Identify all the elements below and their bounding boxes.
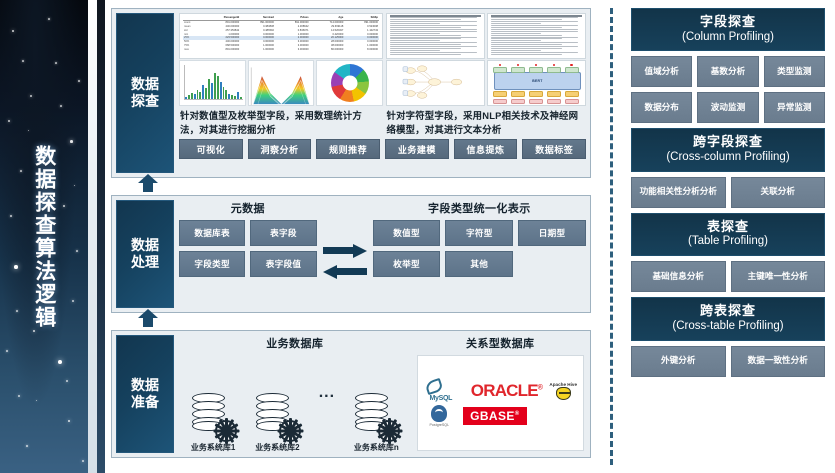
text-line [390, 42, 477, 43]
taxonomy-header-cn: 表探查 [634, 219, 822, 235]
taxonomy-item-grid: 外键分析数据一致性分析 [631, 346, 825, 377]
taxonomy-header-en: (Column Profiling) [634, 31, 822, 45]
field-type-chip[interactable]: 数值型 [373, 220, 441, 246]
taxonomy-item[interactable]: 波动监测 [697, 92, 758, 123]
gear-icon [279, 420, 301, 442]
bar [185, 97, 187, 99]
metadata-chip[interactable]: 表字段 [250, 220, 316, 246]
text-line [491, 37, 578, 38]
dolphin-icon [424, 377, 443, 394]
taxonomy-item[interactable]: 数据分布 [631, 92, 692, 123]
taxonomy-item-grid: 基础信息分析主键唯一性分析 [631, 261, 825, 292]
section-data-profiling: 数据 探查 PassengerIdSurvivedPclassAgeSibSpc… [111, 8, 591, 178]
section-label-line1: 数据 [131, 237, 159, 253]
histogram-chart [179, 60, 246, 106]
taxonomy-group: 表探查(Table Profiling)基础信息分析主键唯一性分析 [631, 213, 825, 292]
text-line [390, 52, 477, 53]
profiling-button-6[interactable]: 数据标签 [522, 139, 586, 159]
text-line [491, 31, 578, 32]
taxonomy-group-header: 字段探查(Column Profiling) [631, 8, 825, 51]
text-line [491, 54, 562, 55]
processing-layout: 元数据 数据库表表字段字段类型表字段值 字段类型统一化表示 数值型字符型日期型枚… [179, 200, 586, 308]
taxonomy-item[interactable]: 类型监测 [764, 56, 825, 87]
field-type-group-title: 字段类型统一化表示 [373, 200, 586, 216]
bert-input-token [529, 67, 544, 73]
panel-gap [88, 0, 97, 473]
text-line [491, 23, 541, 24]
field-type-chip-grid: 数值型字符型日期型枚举型其他 [373, 220, 586, 277]
mask-dot-icon [499, 64, 502, 67]
charts-row [179, 60, 383, 106]
bar [211, 83, 213, 99]
field-type-chip[interactable]: 日期型 [518, 220, 586, 246]
media-strip: PassengerIdSurvivedPclassAgeSibSpcount89… [179, 13, 586, 106]
bar [205, 88, 207, 99]
relational-db-title: 关系型数据库 [415, 335, 586, 351]
oracle-trademark: ® [538, 384, 542, 391]
oracle-logo: ORACLE® [471, 381, 542, 401]
field-type-chip[interactable]: 字符型 [445, 220, 513, 246]
flow-arrow-up-1 [111, 178, 591, 195]
bar [220, 82, 222, 99]
panel-edge [97, 0, 105, 473]
section-data-processing: 数据 处理 元数据 数据库表表字段字段类型表字段值 字段类型统一化表示 [111, 195, 591, 313]
describe-table-screenshot: PassengerIdSurvivedPclassAgeSibSpcount89… [179, 13, 383, 59]
histogram-bars [185, 71, 242, 99]
mysql-label: MySQL [430, 395, 453, 402]
text-line [491, 46, 578, 47]
section-body-processing: 元数据 数据库表表字段字段类型表字段值 字段类型统一化表示 数值型字符型日期型枚… [174, 200, 586, 308]
taxonomy-item[interactable]: 基础信息分析 [631, 261, 726, 292]
text-line [491, 52, 578, 53]
stats-media-group: PassengerIdSurvivedPclassAgeSibSpcount89… [179, 13, 383, 106]
left-title-panel: 数据探查算法逻辑 [0, 0, 88, 473]
text-line [390, 46, 477, 47]
text-line [390, 35, 461, 36]
text-line [390, 33, 440, 34]
text-line [390, 48, 461, 49]
taxonomy-item-grid: 值域分析基数分析类型监测数据分布波动监测异常监测 [631, 56, 825, 123]
taxonomy-item[interactable]: 异常监测 [764, 92, 825, 123]
bert-hidden-token [565, 91, 580, 97]
bert-hidden-token [493, 91, 508, 97]
bar [225, 90, 227, 99]
profiling-button-4[interactable]: 业务建模 [385, 139, 449, 159]
bert-hidden-token [529, 91, 544, 97]
bar [240, 97, 242, 99]
bert-input-token [493, 67, 508, 73]
bar [223, 87, 225, 99]
bert-hidden-token [547, 91, 562, 97]
taxonomy-header-en: (Cross-table Profiling) [634, 320, 822, 334]
x-axis [184, 99, 243, 100]
table-row: max891.0000001.0000003.00000080.0000008.… [183, 47, 379, 51]
section-label-preparation: 数据 准备 [116, 335, 174, 453]
text-line [491, 48, 562, 49]
donut-chart [316, 60, 383, 106]
flow-arrow-up-2 [111, 313, 591, 330]
section-label-line2: 处理 [131, 254, 159, 270]
metadata-chip-grid: 数据库表表字段字段类型表字段值 [179, 220, 317, 277]
metadata-chip[interactable]: 字段类型 [179, 251, 245, 277]
text-line [491, 27, 562, 28]
profiling-button-row: 可视化洞察分析规则推荐业务建模信息提炼数据标签 [179, 139, 586, 159]
table-cell: 3.000000 [275, 47, 310, 51]
text-table-screenshot-1 [386, 13, 485, 59]
field-type-chip[interactable]: 枚举型 [373, 251, 441, 277]
text-line [390, 37, 477, 38]
table-cell: 891.000000 [202, 47, 240, 51]
bar [199, 92, 201, 99]
vendor-logo-card: MySQL ORACLE® Apache Hive [417, 355, 584, 451]
bert-input-token [565, 67, 580, 73]
mysql-logo: MySQL [424, 380, 464, 402]
logo-row-bottom: PostgreSQL GBASE® [424, 405, 577, 427]
table-cell: max [183, 47, 202, 51]
bar [194, 94, 196, 99]
taxonomy-header-cn: 跨表探查 [634, 303, 822, 319]
metadata-group: 元数据 数据库表表字段字段类型表字段值 [179, 200, 317, 308]
database-label: 业务系统库n [354, 442, 399, 453]
surface-3d-chart [248, 60, 315, 106]
oracle-label: ORACLE [471, 381, 538, 400]
arrow-right-icon [323, 246, 367, 255]
bert-label: BERT [532, 79, 542, 83]
metadata-group-title: 元数据 [179, 200, 317, 216]
table-cell: 80.000000 [310, 47, 345, 51]
surface-3d-svg [249, 61, 314, 106]
profiling-button-3[interactable]: 规则推荐 [316, 139, 380, 159]
bar [231, 95, 233, 99]
text-line [491, 33, 541, 34]
text-table-screenshot-2 [487, 13, 586, 59]
text-line [390, 23, 440, 24]
section-label-processing: 数据 处理 [116, 200, 174, 308]
bert-input-token [511, 67, 526, 73]
bidirectional-arrows [317, 200, 373, 308]
database-label: 业务系统库2 [255, 442, 299, 453]
text-line [491, 19, 562, 20]
taxonomy-group: 字段探查(Column Profiling)值域分析基数分析类型监测数据分布波动… [631, 8, 825, 123]
database-cylinder-icon [254, 393, 300, 441]
text-line [491, 40, 541, 41]
database-label: 业务系统库1 [191, 442, 235, 453]
text-line [491, 50, 541, 51]
taxonomy-item[interactable]: 功能相关性分析分析 [631, 177, 726, 208]
bar [208, 79, 210, 99]
taxonomy-group-header: 表探查(Table Profiling) [631, 213, 825, 256]
bar [202, 85, 204, 99]
database-cylinder-icon [353, 393, 399, 441]
relational-db-group: 关系型数据库 MySQL ORACLE® Apache Hive [415, 335, 586, 453]
database-icon-row: 业务系统库1业务系统库2...业务系统库n [179, 355, 411, 453]
profiling-button-5[interactable]: 信息提炼 [454, 139, 518, 159]
description-row: 针对数值型及枚举型字段，采用数理统计方法，对其进行挖掘分析 针对字符型字段，采用… [179, 106, 586, 136]
text-line [390, 29, 477, 30]
database-item: 业务系统库1 [190, 393, 236, 453]
profiling-taxonomy-column: 字段探查(Column Profiling)值域分析基数分析类型监测数据分布波动… [629, 0, 835, 473]
mask-dot-icon [535, 64, 538, 67]
bar [234, 96, 236, 99]
description-numeric: 针对数值型及枚举型字段，采用数理统计方法，对其进行挖掘分析 [179, 106, 380, 136]
mask-dot-icon [517, 64, 520, 67]
taxonomy-header-en: (Cross-column Profiling) [634, 151, 822, 165]
profiling-button-1[interactable]: 可视化 [179, 139, 243, 159]
bert-output-token [547, 99, 562, 104]
database-item: 业务系统库2 [254, 393, 300, 453]
table-cell: 8.000000 [344, 47, 379, 51]
database-cylinder-icon [190, 393, 236, 441]
bert-encoder-block: BERT [494, 72, 581, 90]
donut-ring [331, 64, 369, 102]
preparation-layout: 业务数据库 业务系统库1业务系统库2...业务系统库n 关系型数据库 MySQL [179, 335, 586, 453]
logo-row-top: MySQL ORACLE® Apache Hive [424, 380, 577, 402]
postgresql-label: PostgreSQL [430, 423, 450, 427]
slide-root: 数据探查算法逻辑 数据 探查 PassengerIdSurvivedPcla [0, 0, 835, 473]
text-line [390, 38, 461, 39]
profiling-button-2[interactable]: 洞察分析 [248, 139, 312, 159]
text-line [390, 31, 477, 32]
mask-dot-icon [553, 64, 556, 67]
elephant-icon [431, 405, 447, 422]
hive-label: Apache Hive [549, 382, 577, 387]
bar [214, 73, 216, 99]
bar [237, 92, 239, 99]
taxonomy-item[interactable]: 关联分析 [731, 177, 826, 208]
bert-hidden-token [511, 91, 526, 97]
taxonomy-item[interactable]: 基数分析 [697, 56, 758, 87]
field-type-group: 字段类型统一化表示 数值型字符型日期型枚举型其他 [373, 200, 586, 308]
taxonomy-group-header: 跨表探查(Cross-table Profiling) [631, 297, 825, 340]
gbase-label: GBASE [470, 409, 515, 423]
section-data-preparation: 数据 准备 业务数据库 业务系统库1业务系统库2...业务系统库n 关系型数据库 [111, 330, 591, 458]
mask-dot-icon [570, 64, 573, 67]
gear-icon [215, 420, 237, 442]
metadata-chip[interactable]: 表字段值 [250, 251, 316, 277]
taxonomy-item-grid: 功能相关性分析分析关联分析 [631, 177, 825, 208]
bar [191, 93, 193, 99]
text-line [390, 21, 477, 22]
section-label-line1: 数据 [131, 76, 159, 92]
text-line [390, 19, 461, 20]
bert-architecture-diagram: BERT [487, 60, 586, 106]
taxonomy-header-en: (Table Profiling) [634, 235, 822, 249]
taxonomy-group: 跨表探查(Cross-table Profiling)外键分析数据一致性分析 [631, 297, 825, 376]
bert-output-token [493, 99, 508, 104]
taxonomy-item[interactable]: 外键分析 [631, 346, 726, 377]
dashed-divider [595, 0, 629, 473]
business-db-title: 业务数据库 [179, 335, 411, 351]
taxonomy-group: 跨字段探查(Cross-column Profiling)功能相关性分析分析关联… [631, 128, 825, 207]
nn-graph-svg [387, 61, 484, 105]
neural-network-diagram [386, 60, 485, 106]
text-lines-2 [491, 17, 582, 55]
apache-hive-logo: Apache Hive [549, 382, 577, 400]
section-label-profiling: 数据 探查 [116, 13, 174, 173]
section-body-preparation: 业务数据库 业务系统库1业务系统库2...业务系统库n 关系型数据库 MySQL [174, 335, 586, 453]
database-item: 业务系统库n [353, 393, 399, 453]
text-line [491, 21, 578, 22]
field-type-chip[interactable]: 其他 [445, 251, 513, 277]
text-line [390, 17, 477, 18]
slide-title: 数据探查算法逻辑 [32, 145, 56, 329]
bar [197, 90, 199, 99]
center-flow-column: 数据 探查 PassengerIdSurvivedPclassAgeSibSpc… [105, 0, 595, 473]
text-line [491, 44, 562, 45]
bert-output-token [511, 99, 526, 104]
section-label-line2: 探查 [131, 93, 159, 109]
taxonomy-group-header: 跨字段探查(Cross-column Profiling) [631, 128, 825, 171]
text-line [390, 54, 461, 55]
text-line [390, 27, 461, 28]
table-cell: 1.000000 [240, 47, 275, 51]
bee-icon [556, 387, 571, 400]
text-line [390, 25, 477, 26]
description-text: 针对字符型字段，采用NLP相关技术及神经网络模型，对其进行文本分析 [386, 106, 587, 136]
section-label-line2: 准备 [131, 394, 159, 410]
text-line [390, 40, 440, 41]
section-body-profiling: PassengerIdSurvivedPclassAgeSibSpcount89… [174, 13, 586, 173]
section-label-line1: 数据 [131, 377, 159, 393]
business-db-group: 业务数据库 业务系统库1业务系统库2...业务系统库n [179, 335, 411, 453]
bert-output-token [565, 99, 580, 104]
arrow-left-icon [323, 267, 367, 276]
postgresql-logo: PostgreSQL [430, 405, 450, 427]
text-line [390, 50, 440, 51]
text-line [491, 35, 562, 36]
text-line [491, 29, 578, 30]
describe-table: PassengerIdSurvivedPclassAgeSibSpcount89… [183, 16, 379, 51]
metadata-chip[interactable]: 数据库表 [179, 220, 245, 246]
text-lines-1 [390, 17, 481, 55]
bert-input-token [547, 67, 562, 73]
ellipsis: ... [319, 384, 335, 424]
text-line [491, 38, 562, 39]
text-line [491, 25, 578, 26]
text-line [390, 44, 461, 45]
bar [188, 95, 190, 99]
gbase-logo: GBASE® [463, 407, 527, 425]
bar [228, 94, 230, 99]
taxonomy-header-cn: 跨字段探查 [634, 134, 822, 150]
taxonomy-item[interactable]: 值域分析 [631, 56, 692, 87]
text-line [491, 42, 578, 43]
bert-output-token [529, 99, 544, 104]
taxonomy-header-cn: 字段探查 [634, 14, 822, 30]
gear-icon [378, 420, 400, 442]
nlp-media-group: BERT [386, 13, 586, 106]
text-line [491, 17, 578, 18]
taxonomy-item[interactable]: 数据一致性分析 [731, 346, 826, 377]
gbase-trademark: ® [515, 411, 520, 417]
taxonomy-item[interactable]: 主键唯一性分析 [731, 261, 826, 292]
bar [217, 76, 219, 99]
